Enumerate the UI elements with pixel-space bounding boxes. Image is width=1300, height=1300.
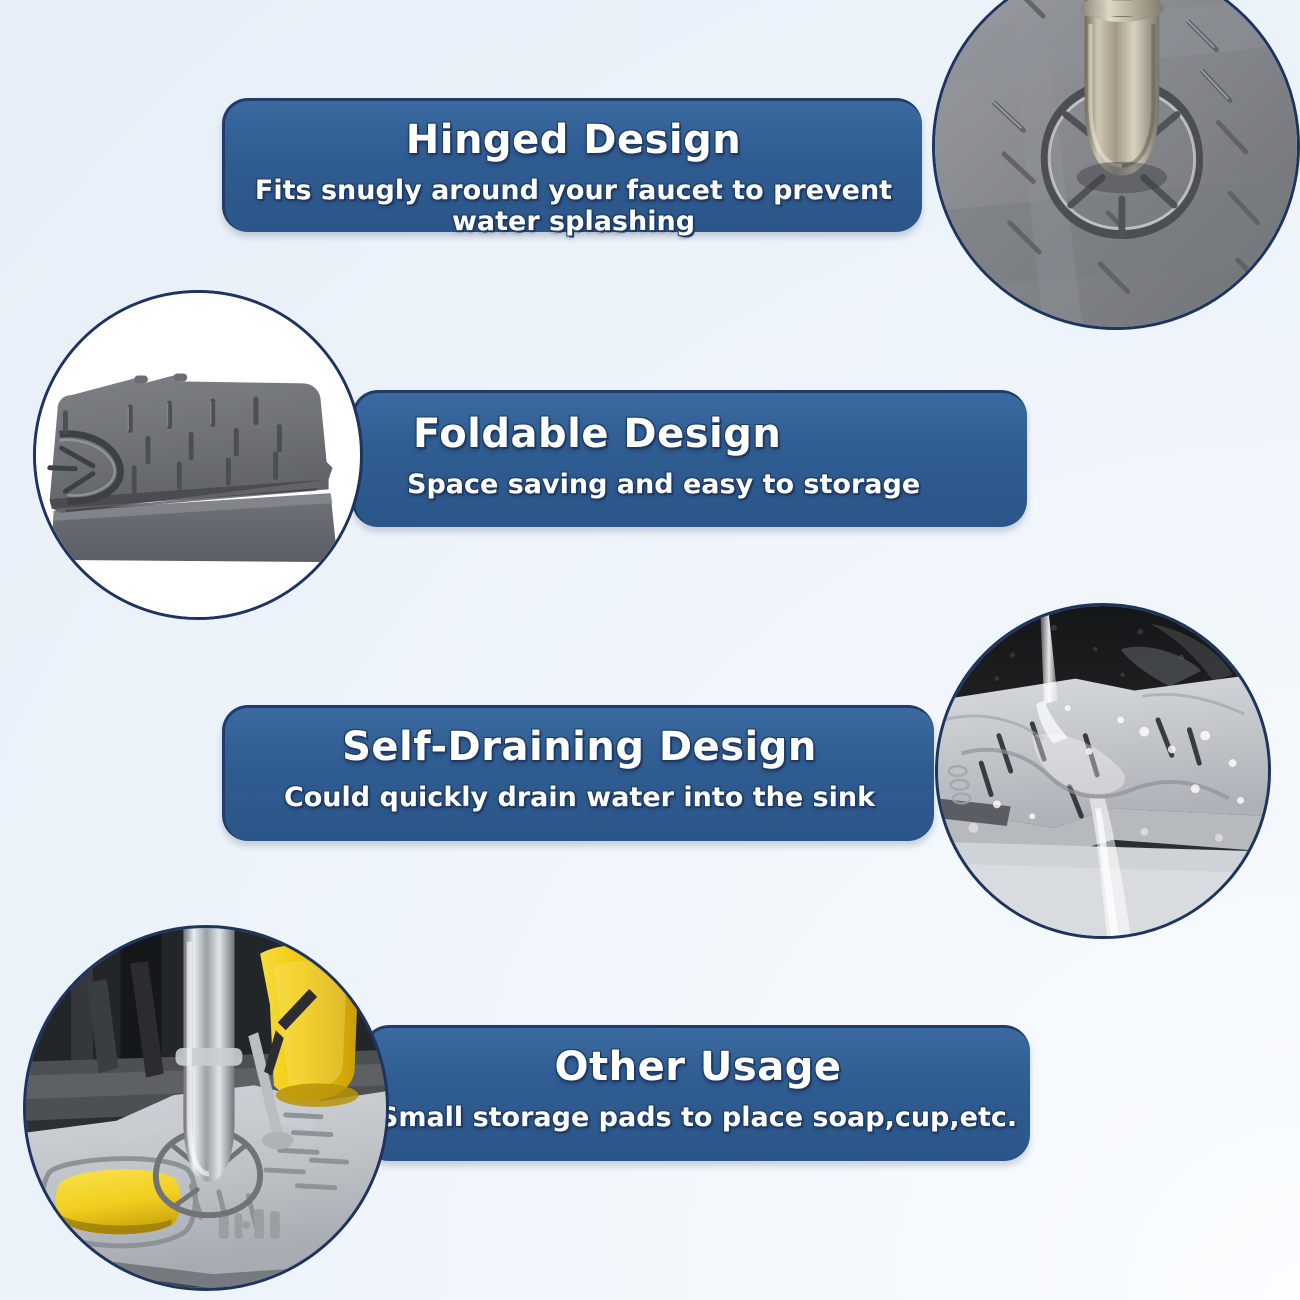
photo-folded-silicone-mat	[33, 290, 363, 620]
faucet-base-illustration	[935, 0, 1297, 327]
feature-banner-hinged[interactable]: Hinged Design Fits snugly around your fa…	[222, 98, 922, 232]
feature-title: Hinged Design	[225, 117, 922, 163]
folded-mat-illustration	[36, 293, 360, 617]
feature-banner-foldable[interactable]: Foldable Design Space saving and easy to…	[352, 390, 1027, 527]
feature-title: Foldable Design	[413, 411, 781, 457]
draining-water-illustration	[938, 606, 1268, 936]
feature-subtitle: Small storage pads to place soap,cup,etc…	[366, 1102, 1030, 1133]
infographic-canvas: Hinged Design Fits snugly around your fa…	[0, 0, 1300, 1300]
feature-title: Self-Draining Design	[225, 724, 934, 770]
feature-banner-self-draining[interactable]: Self-Draining Design Could quickly drain…	[222, 705, 934, 841]
feature-subtitle: Could quickly drain water into the sink	[225, 782, 934, 813]
feature-subtitle: Space saving and easy to storage	[407, 469, 920, 500]
storage-usage-illustration	[26, 928, 386, 1288]
feature-subtitle: Fits snugly around your faucet to preven…	[225, 175, 922, 237]
photo-faucet-base-on-mat	[932, 0, 1300, 330]
photo-water-draining-off-mat	[935, 603, 1271, 939]
feature-banner-other-usage[interactable]: Other Usage Small storage pads to place …	[363, 1025, 1030, 1161]
feature-title: Other Usage	[366, 1044, 1030, 1090]
photo-sponge-and-soap-on-mat	[23, 925, 389, 1291]
